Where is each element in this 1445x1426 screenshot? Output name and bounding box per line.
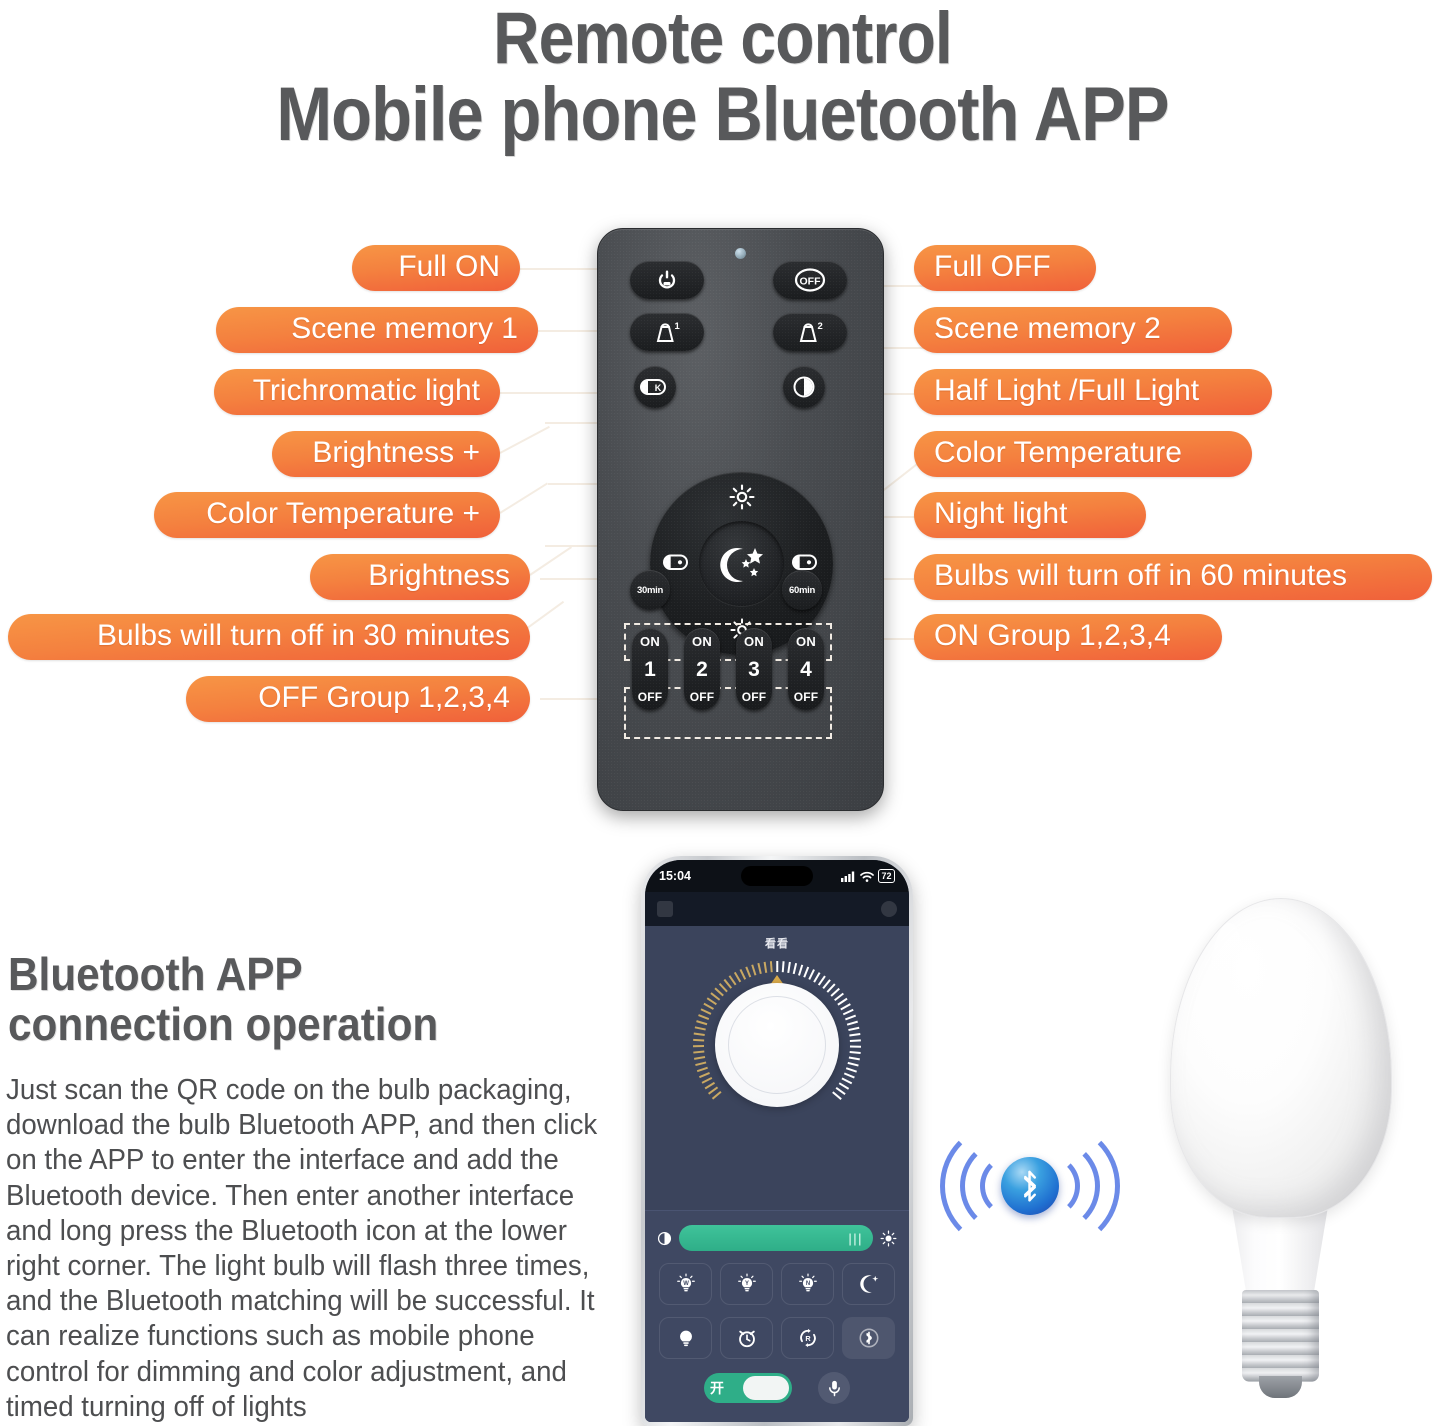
- dial-tick: [849, 1057, 860, 1060]
- dial-tick: [734, 972, 741, 982]
- rgb-cycle-icon: R: [797, 1327, 819, 1349]
- voice-control-button[interactable]: [818, 1372, 850, 1404]
- dial-tick: [693, 1051, 704, 1054]
- dial-tick: [714, 988, 723, 997]
- timer-60min-button[interactable]: 60min: [782, 570, 822, 610]
- warm-white-bulb-button[interactable]: W: [659, 1263, 712, 1305]
- scene-memory-1-button[interactable]: 1: [630, 313, 704, 351]
- timer-30min-button[interactable]: 30min: [630, 570, 670, 610]
- group-1-on-label: ON: [640, 634, 660, 649]
- dial-tick: [793, 963, 797, 974]
- callout-trichromatic-light[interactable]: Trichromatic light: [214, 369, 500, 415]
- connector-line: [500, 426, 550, 454]
- dial-tick: [703, 1003, 713, 1010]
- dial-tick: [847, 1021, 858, 1026]
- timer-30min-label: 30min: [637, 585, 663, 596]
- dial-tick: [724, 979, 732, 988]
- dial-tick: [787, 962, 790, 973]
- callout-full-off[interactable]: Full OFF: [914, 245, 1096, 291]
- app-screen-title: 看看: [645, 926, 909, 951]
- toggle-knob: [743, 1376, 789, 1400]
- slider-handle-label: |||: [848, 1231, 863, 1246]
- group-2-on-label: ON: [692, 634, 712, 649]
- alarm-clock-icon: [736, 1327, 758, 1349]
- yellow-bulb-button[interactable]: Y: [720, 1263, 773, 1305]
- power-off-button[interactable]: OFF: [773, 261, 847, 299]
- color-temperature-k-icon: K: [640, 377, 670, 397]
- bluetooth-section-body: Just scan the QR code on the bulb packag…: [6, 1073, 609, 1425]
- dial-tick: [693, 1046, 704, 1048]
- dial-tick: [845, 1015, 856, 1020]
- off-circle-icon: OFF: [794, 268, 826, 292]
- bluetooth-icon: [858, 1327, 880, 1349]
- dial-tick: [848, 1062, 859, 1066]
- dial-tick: [693, 1039, 704, 1041]
- group-4-off-label: OFF: [794, 690, 819, 704]
- dial-tick: [719, 983, 728, 992]
- natural-bulb-button[interactable]: N: [781, 1263, 834, 1305]
- group-3-number: 3: [748, 658, 760, 682]
- infographic-page: Remote control Mobile phone Bluetooth AP…: [0, 0, 1445, 1426]
- dial-tick: [770, 961, 772, 972]
- bluetooth-heading-line-2: connection operation: [8, 1000, 560, 1050]
- dial-tick: [808, 969, 814, 980]
- color-temperature-icon: [663, 554, 691, 571]
- toggle-label: 开: [710, 1378, 724, 1398]
- dial-tick: [798, 965, 803, 976]
- svg-text:R: R: [805, 1334, 811, 1343]
- bluetooth-signal-graphic: [938, 1100, 1118, 1275]
- timer-alarm-button[interactable]: [720, 1317, 773, 1359]
- app-bottom-row: 开: [645, 1359, 909, 1404]
- brightness-dial[interactable]: [693, 961, 861, 1129]
- callout-night-light[interactable]: Night light: [914, 492, 1146, 538]
- scene-1-number: 1: [675, 321, 681, 332]
- bulb-n-letter: N: [805, 1281, 809, 1287]
- dial-tick: [776, 961, 778, 972]
- scene-lamp-icon: 2: [793, 319, 827, 345]
- brightness-slider-row: |||: [645, 1211, 909, 1251]
- power-toggle[interactable]: 开: [704, 1373, 792, 1403]
- svg-text:OFF: OFF: [800, 275, 822, 287]
- power-icon: [655, 268, 679, 292]
- high-brightness-icon: [880, 1230, 897, 1247]
- dial-tick: [729, 975, 736, 985]
- bulb-w-letter: W: [683, 1281, 689, 1287]
- battery-indicator: 72: [878, 869, 895, 883]
- dial-tick: [696, 1021, 707, 1026]
- dial-tick: [848, 1027, 859, 1031]
- power-on-button[interactable]: [630, 261, 704, 299]
- dial-tick: [751, 965, 756, 976]
- remote-control-device: OFF 1 2 K: [597, 228, 884, 811]
- led-bulb-product: [1158, 898, 1403, 1418]
- dial-tick: [844, 1072, 855, 1078]
- dial-tick: [850, 1051, 861, 1054]
- scene-icon-grid-row-2: R: [645, 1305, 909, 1359]
- callout-scene-memory-2[interactable]: Scene memory 2: [914, 307, 1232, 353]
- dial-tick: [843, 1009, 854, 1015]
- dial-tick: [697, 1067, 708, 1072]
- app-main-area: 看看 |||: [645, 926, 909, 1422]
- bulb-highlight: [1267, 929, 1289, 1049]
- group-1-off-label: OFF: [638, 690, 663, 704]
- bulb-n-icon: N: [797, 1273, 819, 1295]
- bluetooth-pair-button[interactable]: [842, 1317, 895, 1359]
- bulb-y-icon: Y: [736, 1273, 758, 1295]
- dial-tick: [712, 1091, 721, 1099]
- group-button-3[interactable]: ON 3 OFF: [736, 628, 772, 710]
- profile-icon[interactable]: [881, 901, 897, 917]
- bulb-w-icon: W: [675, 1273, 697, 1295]
- bulb-contact-tip: [1259, 1376, 1302, 1398]
- dial-tick: [836, 1087, 846, 1095]
- dial-tick: [699, 1072, 710, 1078]
- dial-tick: [702, 1077, 712, 1083]
- dial-knob[interactable]: [715, 983, 839, 1107]
- dial-tick: [695, 1062, 706, 1066]
- dial-tick: [740, 969, 746, 980]
- dial-tick: [695, 1027, 706, 1031]
- callout-off-group[interactable]: OFF Group 1,2,3,4: [186, 676, 530, 722]
- callout-brightness-plus[interactable]: Brightness +: [272, 431, 500, 477]
- dial-tick: [842, 1077, 852, 1083]
- callout-scene-memory-1[interactable]: Scene memory 1: [216, 307, 538, 353]
- callout-brightness[interactable]: Brightness: [310, 554, 530, 600]
- dial-tick: [694, 1033, 705, 1036]
- phone-notch: [741, 866, 813, 886]
- bluetooth-heading-line-1: Bluetooth APP: [8, 950, 560, 1000]
- connector-line: [499, 482, 548, 513]
- k-letter: K: [655, 383, 662, 393]
- app-control-panel: |||: [645, 1210, 909, 1422]
- bulb-glass-dome: [1170, 898, 1392, 1218]
- dial-tick: [846, 1067, 857, 1072]
- group-4-on-label: ON: [796, 634, 816, 649]
- scene-lamp-icon: 1: [650, 319, 684, 345]
- wifi-icon: [860, 871, 874, 882]
- app-top-bar: [645, 892, 909, 926]
- page-title: Remote control Mobile phone Bluetooth AP…: [0, 0, 1445, 154]
- scene-memory-2-button[interactable]: 2: [773, 313, 847, 351]
- bluetooth-logo-sphere: [1001, 1157, 1059, 1215]
- dial-tick: [707, 998, 717, 1005]
- night-light-button[interactable]: [699, 521, 784, 606]
- callout-bulbs-off-60[interactable]: Bulbs will turn off in 60 minutes: [914, 554, 1432, 600]
- dial-tick: [832, 1091, 841, 1099]
- dial-tick: [803, 967, 808, 978]
- dial-tick: [840, 1003, 850, 1010]
- dial-tick: [701, 1009, 712, 1015]
- phone-mockup: 15:04 72: [641, 856, 913, 1426]
- callout-half-full-light[interactable]: Half Light /Full Light: [914, 369, 1272, 415]
- title-line-1: Remote control: [87, 0, 1359, 76]
- group-1-number: 1: [644, 658, 656, 682]
- group-4-number: 4: [800, 658, 812, 682]
- ir-led-indicator: [735, 248, 746, 259]
- status-time: 15:04: [659, 869, 691, 883]
- group-button-1[interactable]: ON 1 OFF: [632, 628, 668, 710]
- brightness-slider[interactable]: |||: [679, 1225, 873, 1251]
- dial-tick: [782, 961, 784, 972]
- timer-60min-label: 60min: [789, 585, 815, 596]
- dial-tick: [850, 1039, 861, 1041]
- group-button-2[interactable]: ON 2 OFF: [684, 628, 720, 710]
- bulb-y-letter: Y: [745, 1281, 749, 1287]
- rgb-cycle-button[interactable]: R: [781, 1317, 834, 1359]
- low-brightness-icon: [657, 1231, 672, 1246]
- menu-icon[interactable]: [657, 901, 673, 917]
- dial-tick: [710, 993, 720, 1001]
- bulb-highlight: [1209, 923, 1249, 1073]
- dial-tick: [745, 967, 750, 978]
- connector-line: [529, 546, 572, 576]
- cellular-signal-icon: [841, 871, 856, 882]
- callout-on-group[interactable]: ON Group 1,2,3,4: [914, 614, 1222, 660]
- color-temperature-icon: [792, 554, 820, 571]
- color-temperature-up-button[interactable]: [660, 547, 694, 577]
- plain-bulb-button[interactable]: [659, 1317, 712, 1359]
- scene-icon-grid-row-1: W: [645, 1251, 909, 1305]
- night-mode-button[interactable]: [842, 1263, 895, 1305]
- microphone-icon: [827, 1380, 842, 1397]
- dial-tick: [850, 1046, 861, 1048]
- group-2-number: 2: [696, 658, 708, 682]
- callout-color-temperature-plus[interactable]: Color Temperature +: [154, 492, 500, 538]
- dial-tick: [694, 1057, 705, 1060]
- group-2-off-label: OFF: [690, 690, 715, 704]
- group-3-on-label: ON: [744, 634, 764, 649]
- sun-icon: [729, 484, 755, 510]
- bluetooth-section-heading: Bluetooth APP connection operation: [8, 950, 560, 1049]
- brightness-up-button[interactable]: [720, 482, 764, 512]
- dial-tick: [764, 962, 767, 973]
- status-right-group: 72: [841, 869, 895, 883]
- callout-color-temperature[interactable]: Color Temperature: [914, 431, 1252, 477]
- scene-2-number: 2: [818, 321, 823, 332]
- group-3-off-label: OFF: [742, 690, 767, 704]
- bulb-screw-base: [1242, 1290, 1319, 1382]
- title-line-2: Mobile phone Bluetooth APP: [87, 76, 1359, 154]
- callout-bulbs-off-30[interactable]: Bulbs will turn off in 30 minutes: [8, 614, 530, 660]
- trichromatic-light-button[interactable]: K: [634, 366, 676, 408]
- moon-icon: [858, 1273, 880, 1295]
- half-full-light-button[interactable]: [783, 366, 825, 408]
- dial-tick: [757, 963, 761, 974]
- half-moon-contrast-icon: [792, 375, 816, 399]
- dial-tick: [849, 1033, 860, 1036]
- bluetooth-icon: [1015, 1167, 1045, 1205]
- bulb-icon: [675, 1327, 697, 1349]
- group-button-4[interactable]: ON 4 OFF: [788, 628, 824, 710]
- callout-full-on[interactable]: Full ON: [352, 245, 520, 291]
- dial-tick: [698, 1015, 709, 1020]
- dial-tick: [839, 1082, 849, 1089]
- moon-stars-icon: [715, 541, 769, 587]
- phone-screen: 15:04 72: [645, 860, 909, 1422]
